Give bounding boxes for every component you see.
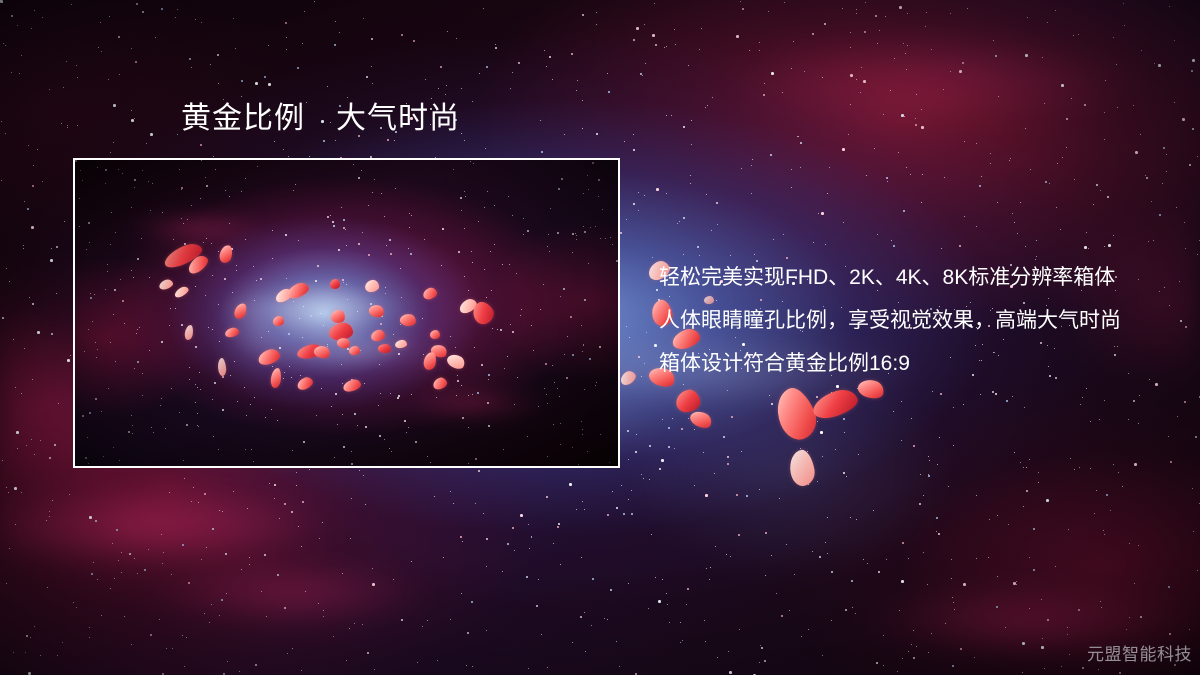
petal: [674, 388, 701, 414]
watermark: 元盟智能科技: [1087, 640, 1192, 665]
petal: [787, 448, 817, 488]
petal: [809, 385, 860, 422]
petal: [618, 369, 638, 388]
body-copy-line-3: 箱体设计符合黄金比例16:9: [659, 342, 1179, 385]
body-copy-line-2: 人体眼睛瞳孔比例，享受视觉效果，高端大气时尚: [659, 299, 1179, 342]
framed-image-content: [75, 160, 618, 466]
slide-title: 黄金比例 大气时尚: [181, 101, 460, 137]
petal: [688, 408, 714, 431]
petal: [770, 383, 823, 445]
body-copy: 轻松完美实现FHD、2K、4K、8K标准分辨率箱体 人体眼睛瞳孔比例，享受视觉效…: [659, 256, 1179, 385]
body-copy-line-1: 轻松完美实现FHD、2K、4K、8K标准分辨率箱体: [659, 256, 1179, 299]
presentation-slide: 黄金比例 大气时尚 轻松完美实现FHD、2K、4K、8K标准分辨率箱体 人体眼睛…: [0, 0, 1200, 675]
framed-image: [73, 158, 620, 468]
framed-image-vignette: [75, 160, 618, 466]
